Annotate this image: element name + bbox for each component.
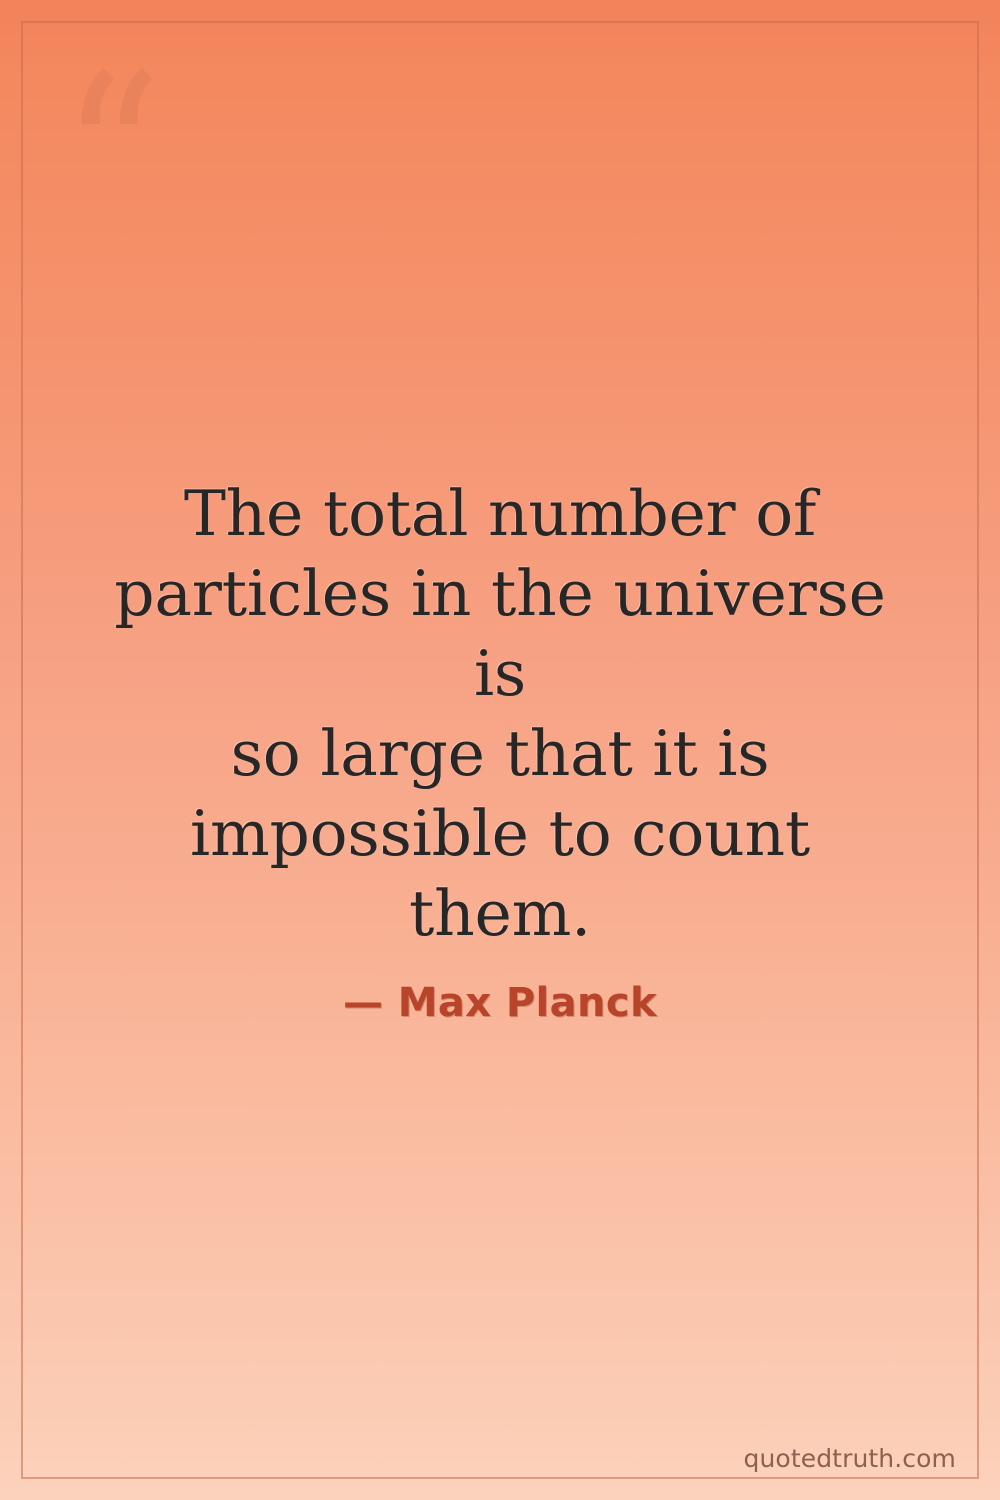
open-double-quote-icon bbox=[62, 46, 182, 166]
quote-content: The total number of particles in the uni… bbox=[0, 474, 1000, 1026]
site-watermark: quotedtruth.com bbox=[744, 1444, 956, 1473]
quote-card: The total number of particles in the uni… bbox=[0, 0, 1000, 1500]
quote-author: — Max Planck bbox=[90, 954, 910, 1026]
quote-text: The total number of particles in the uni… bbox=[90, 474, 910, 954]
